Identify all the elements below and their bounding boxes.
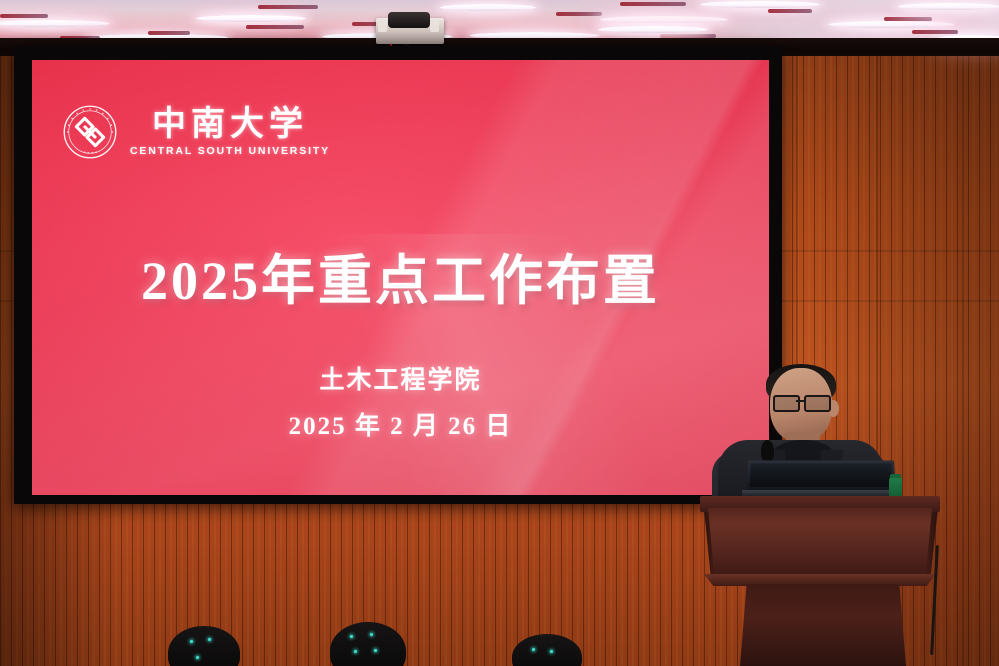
university-name-chinese: 中南大学 xyxy=(152,107,308,142)
presentation-photo-scene: 中南大学 CENTRAL SOUTH UNIVERSITY 2025年重点工作布… xyxy=(0,0,999,666)
slide-subtitle-block: 土木工程学院 2025 年 2 月 26 日 xyxy=(32,360,769,442)
ceiling-light-panel xyxy=(598,26,708,33)
ceiling-light-panel xyxy=(600,16,728,23)
ceiling-light-panel xyxy=(898,3,999,10)
ceiling-light-panel xyxy=(700,1,820,8)
university-name-english: CENTRAL SOUTH UNIVERSITY xyxy=(130,145,330,157)
ceiling-light-panel xyxy=(828,21,954,28)
lectern-column xyxy=(740,584,906,666)
slide-organization: 土木工程学院 xyxy=(32,360,769,396)
csu-seal-icon xyxy=(62,104,118,160)
laptop xyxy=(746,461,896,494)
ceiling-light-panel xyxy=(196,15,306,22)
slide-date: 2025 年 2 月 26 日 xyxy=(32,406,769,442)
water-bottle xyxy=(889,478,902,498)
slide-title: 2025年重点工作布置 xyxy=(32,236,769,315)
projection-screen: 中南大学 CENTRAL SOUTH UNIVERSITY 2025年重点工作布… xyxy=(32,60,769,495)
speaker-glasses-right-lens xyxy=(804,395,831,412)
university-logo: 中南大学 CENTRAL SOUTH UNIVERSITY xyxy=(62,104,330,160)
ceiling-light-panel xyxy=(440,4,536,11)
speaker-glasses-bridge xyxy=(796,400,804,402)
projector-lens xyxy=(388,12,430,28)
lectern-front-panel xyxy=(708,508,932,580)
speaker-glasses-left-lens xyxy=(773,395,800,412)
